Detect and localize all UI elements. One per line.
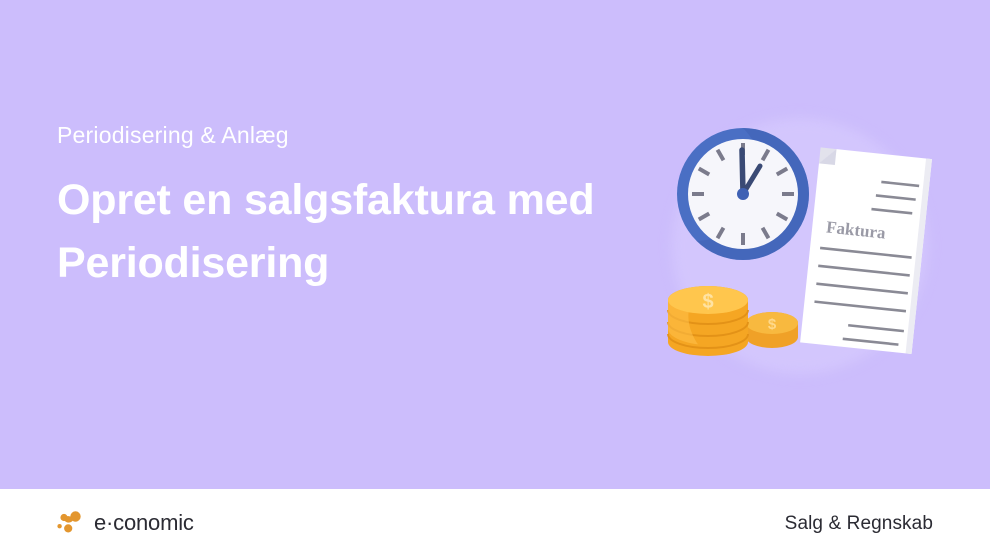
coin-stack-icon: $ $: [668, 286, 798, 356]
eyebrow-text: Periodisering & Anlæg: [57, 120, 677, 150]
page-title: Opret en salgsfaktura med Periodisering: [57, 169, 667, 295]
brand-name-label: e·conomic: [94, 512, 194, 534]
brand-logo[interactable]: e·conomic: [55, 508, 194, 538]
svg-text:$: $: [768, 316, 777, 333]
clock-icon: [677, 128, 809, 260]
footer-category-label: Salg & Regnskab: [785, 514, 933, 533]
hero-section: Periodisering & Anlæg Opret en salgsfakt…: [0, 0, 990, 489]
economic-logo-icon: [55, 508, 85, 538]
clock-invoice-coins-illustration: Faktura: [660, 110, 956, 372]
footer-bar: e·conomic Salg & Regnskab: [0, 489, 990, 557]
slide-canvas: Periodisering & Anlæg Opret en salgsfakt…: [0, 0, 990, 557]
svg-text:$: $: [702, 291, 713, 313]
invoice-document: Faktura: [800, 147, 932, 354]
title-block: Periodisering & Anlæg Opret en salgsfakt…: [57, 120, 677, 295]
